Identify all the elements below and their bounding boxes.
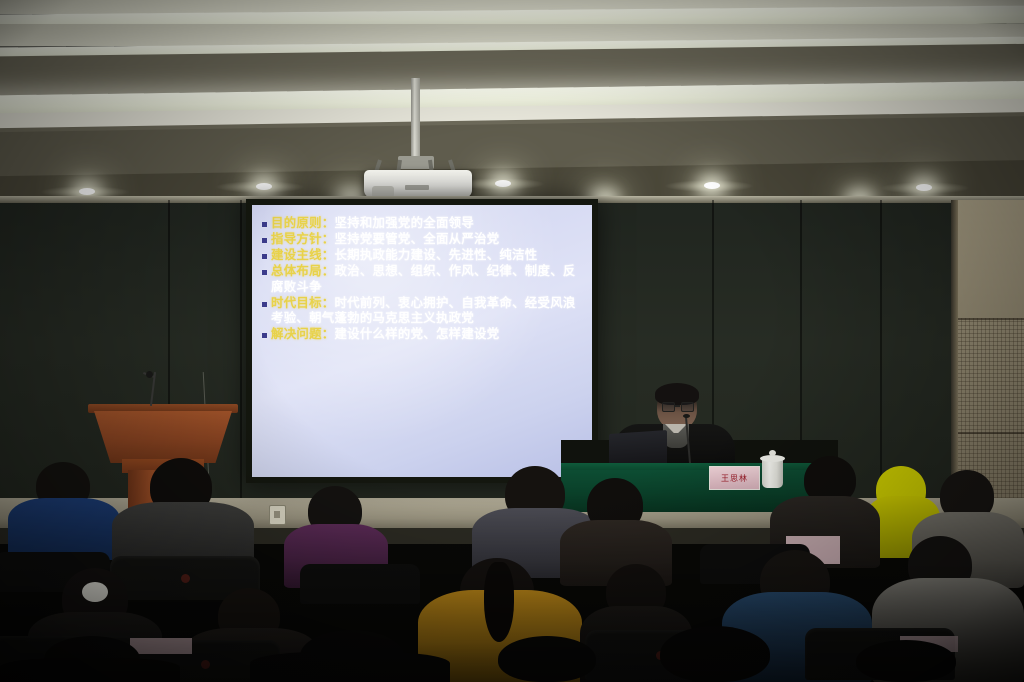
bullet-square-icon [262,270,267,275]
slide-bullet-head: 总体布局： [271,263,334,278]
slide-bullet: 总体布局：政治、思想、组织、作风、纪律、制度、反腐败斗争 [262,263,584,293]
slide-bullet-text: 时代目标：时代前列、衷心拥护、自我革命、经受风浪考验、朝气蓬勃的马克思主义执政党 [271,295,584,325]
panel-divider [957,432,1024,434]
ceiling-downlight [916,184,932,191]
slide-bullet: 目的原则：坚持和加强党的全面领导 [262,215,584,230]
ceiling-downlight [256,183,272,190]
table-microphone-icon [683,414,690,418]
ceiling-downlight [704,182,720,189]
audience-head [660,626,770,682]
bullet-square-icon [262,254,267,259]
audience-torso [250,652,450,682]
projector-brand-label [405,185,429,190]
projector-pole [411,78,420,160]
auditorium-chair [300,564,420,604]
slide-bullet-text: 总体布局：政治、思想、组织、作风、纪律、制度、反腐败斗争 [271,263,584,293]
slide-bullet-body: 建设什么样的党、怎样建设党 [334,326,499,341]
slide-bullet-body: 坚持党要管党、全面从严治党 [334,231,499,246]
audience-head [498,636,596,682]
presentation-slide: 目的原则：坚持和加强党的全面领导 指导方针：坚持党要管党、全面从严治党 建设主线… [252,205,592,477]
bullet-square-icon [262,333,267,338]
slide-bullet-body: 坚持和加强党的全面领导 [334,215,474,230]
seat-card [130,638,192,654]
panel-divider [957,318,1024,320]
slide-bullet: 建设主线：长期执政能力建设、先进性、纯洁性 [262,247,584,262]
slide-bullet-text: 指导方针：坚持党要管党、全面从严治党 [271,231,499,246]
projection-screen: 目的原则：坚持和加强党的全面领导 指导方针：坚持党要管党、全面从严治党 建设主线… [252,205,592,477]
slide-bullet: 解决问题：建设什么样的党、怎样建设党 [262,326,584,341]
audience-ponytail [484,562,514,642]
ceiling [0,0,1024,210]
bullet-square-icon [262,222,267,227]
slide-bullet-head: 指导方针： [271,231,334,246]
slide-bullet: 时代目标：时代前列、衷心拥护、自我革命、经受风浪考验、朝气蓬勃的马克思主义执政党 [262,295,584,325]
slide-bullet: 指导方针：坚持党要管党、全面从严治党 [262,231,584,246]
slide-bullet-head: 建设主线： [271,247,334,262]
slide-bullet-body: 长期执政能力建设、先进性、纯洁性 [334,247,537,262]
hair-clip-icon [82,582,108,602]
slide-bullet-head: 目的原则： [271,215,334,230]
bullet-square-icon [262,238,267,243]
audience-head [856,640,956,682]
slide-bullet-head: 时代目标： [271,295,334,310]
audience [0,440,1024,682]
audience-torso [0,658,180,682]
microphone-icon [146,371,153,378]
slide-bullet-text: 目的原则：坚持和加强党的全面领导 [271,215,474,230]
ceiling-downlight [79,188,95,195]
slide-bullet-text: 解决问题：建设什么样的党、怎样建设党 [271,326,499,341]
audience-torso [8,498,120,560]
slide-bullet-text: 建设主线：长期执政能力建设、先进性、纯洁性 [271,247,538,262]
eyeglasses-bridge [674,405,680,407]
ceiling-downlight [495,180,511,187]
slide-bullet-head: 解决问题： [271,326,334,341]
bullet-square-icon [262,302,267,307]
lecture-hall-photo: 目的原则：坚持和加强党的全面领导 指导方针：坚持党要管党、全面从严治党 建设主线… [0,0,1024,682]
